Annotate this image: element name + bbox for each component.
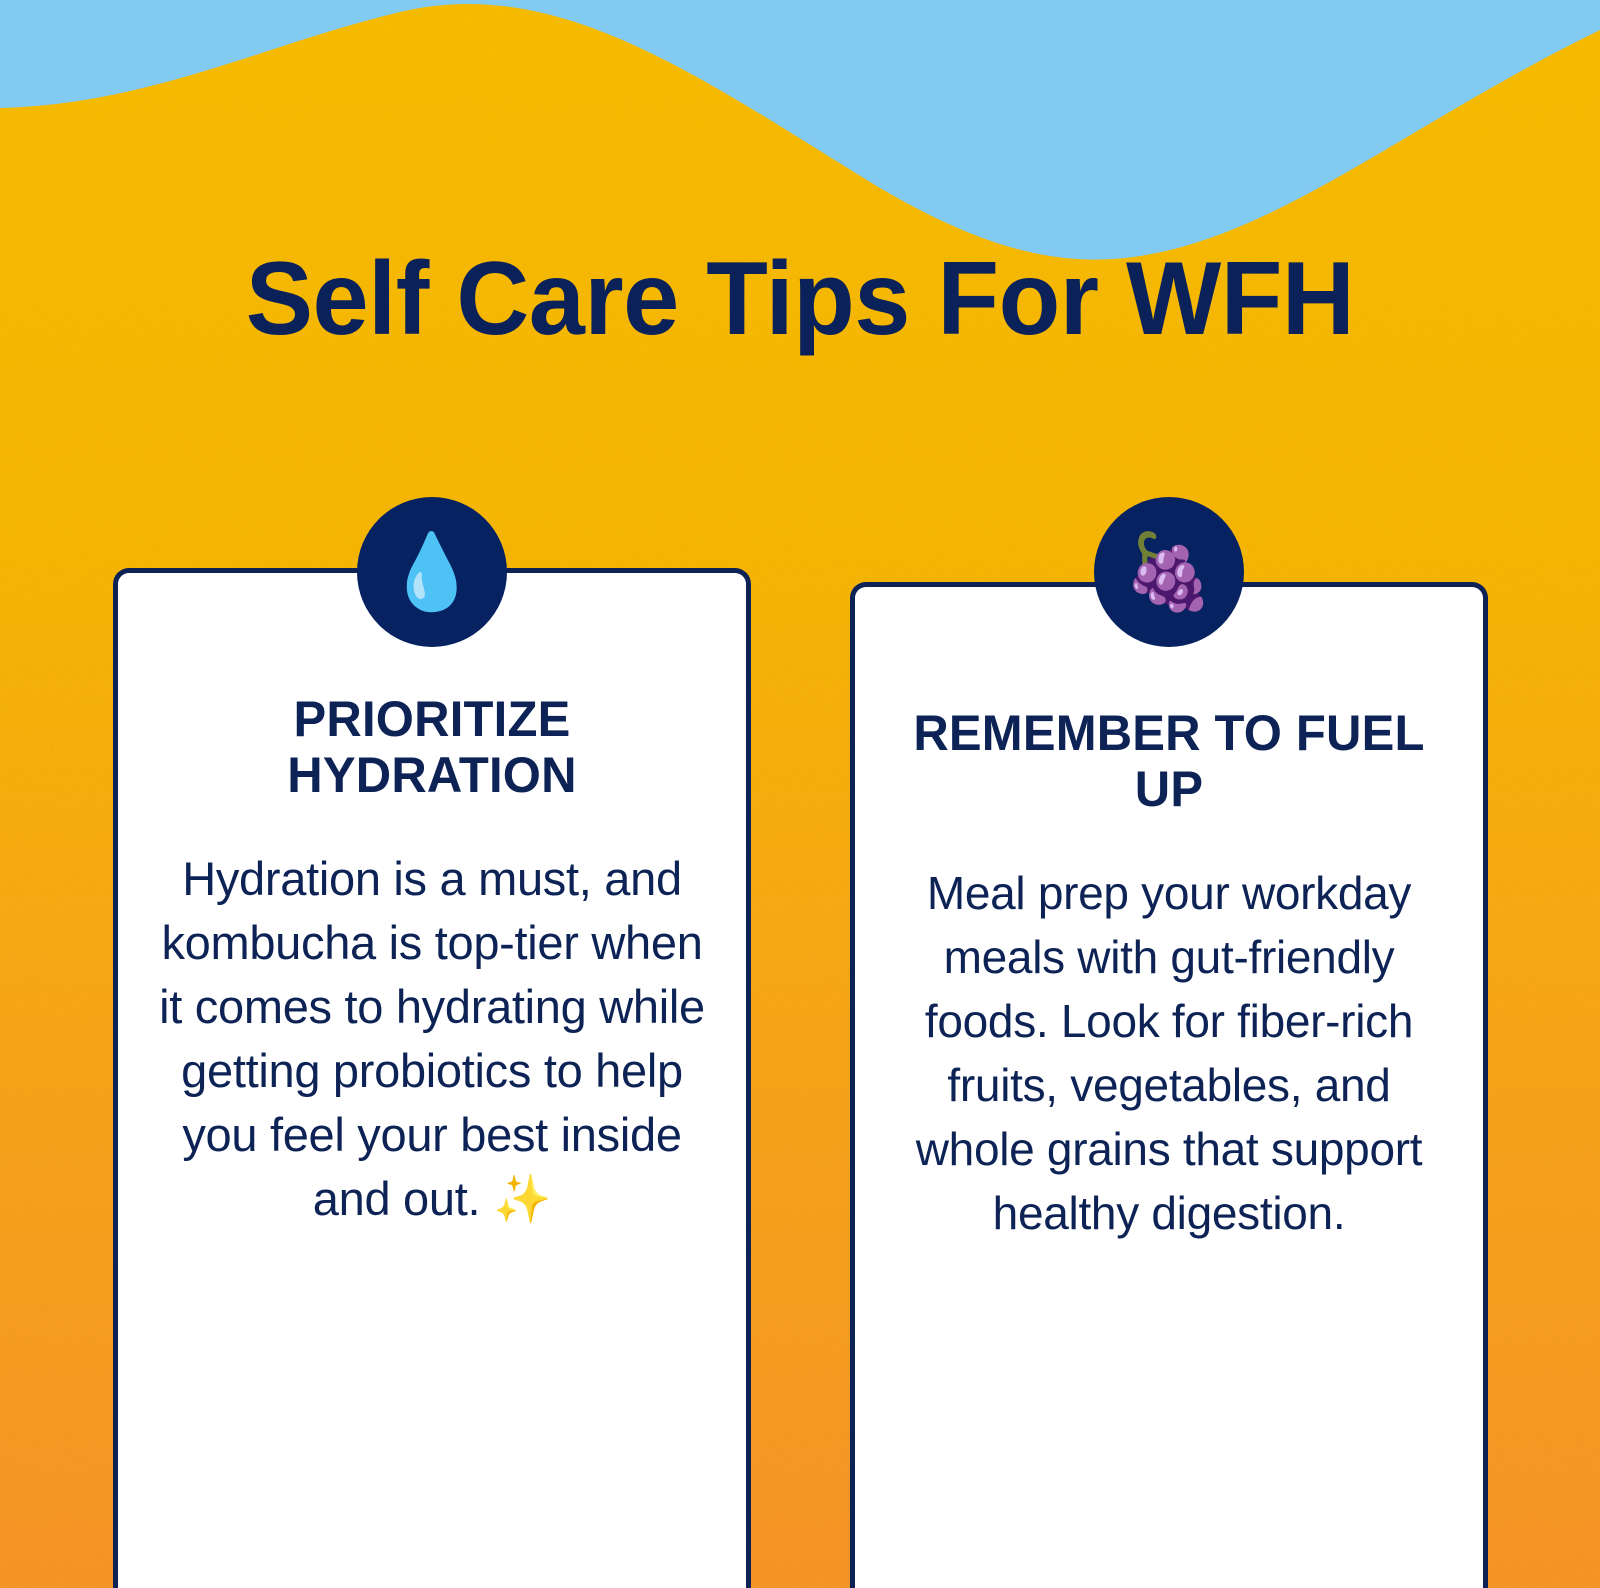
tip-card-hydration: 💧 PRIORITIZE HYDRATION Hydration is a mu… (113, 568, 751, 1588)
grapes-icon: 🍇 (1094, 497, 1244, 647)
page-title: Self Care Tips For WFH (24, 243, 1576, 355)
water-droplet-icon: 💧 (357, 497, 507, 647)
tip-card-fuel-up-body: Meal prep your workday meals with gut-fr… (891, 861, 1447, 1245)
tip-card-fuel-up: 🍇 REMEMBER TO FUEL UP Meal prep your wor… (850, 582, 1488, 1588)
tip-card-fuel-up-heading: REMEMBER TO FUEL UP (897, 705, 1442, 817)
tip-card-hydration-body: Hydration is a must, and kombucha is top… (154, 847, 710, 1231)
tip-card-hydration-heading: PRIORITIZE HYDRATION (160, 691, 705, 803)
tips-card-row: 💧 PRIORITIZE HYDRATION Hydration is a mu… (113, 568, 1488, 1588)
infographic-canvas: Self Care Tips For WFH 💧 PRIORITIZE HYDR… (0, 0, 1600, 1588)
